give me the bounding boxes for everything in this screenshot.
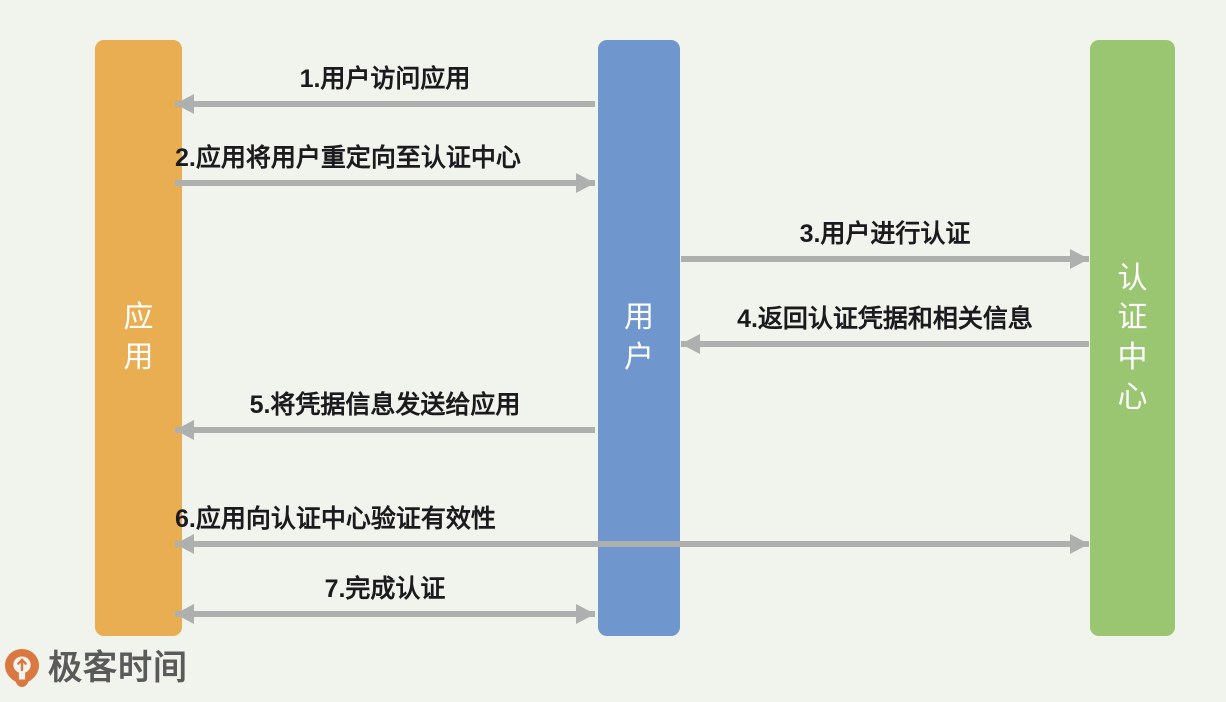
message-6-line xyxy=(175,541,1089,547)
arrow-left-icon xyxy=(681,334,700,354)
message-4-label: 4.返回认证凭据和相关信息 xyxy=(681,305,1089,334)
actor-application: 应用 xyxy=(95,40,182,636)
actor-application-label: 应用 xyxy=(122,298,156,377)
message-5-label: 5.将凭据信息发送给应用 xyxy=(175,391,595,420)
actor-user-label: 用户 xyxy=(622,298,656,377)
message-7-label: 7.完成认证 xyxy=(175,575,595,604)
geektime-logo-text: 极客时间 xyxy=(48,651,188,685)
actor-auth-center-label: 认证中心 xyxy=(1116,259,1150,417)
arrow-left-icon xyxy=(175,420,194,440)
geektime-logo-icon xyxy=(4,648,40,688)
message-4-line xyxy=(681,341,1089,347)
actor-auth-center: 认证中心 xyxy=(1090,40,1175,636)
sequence-diagram: 应用 用户 认证中心 1.用户访问应用 2.应用将用户重定向至认证中心 3.用户… xyxy=(0,0,1226,702)
arrow-right-icon xyxy=(576,604,595,624)
message-3-line xyxy=(681,256,1089,262)
message-3-label: 3.用户进行认证 xyxy=(681,220,1089,249)
arrow-left-icon xyxy=(175,534,194,554)
arrow-right-icon xyxy=(1070,249,1089,269)
message-7-line xyxy=(175,611,595,617)
arrow-left-icon xyxy=(175,94,194,114)
message-2-label: 2.应用将用户重定向至认证中心 xyxy=(175,144,595,173)
arrow-right-icon xyxy=(1070,534,1089,554)
message-6-label: 6.应用向认证中心验证有效性 xyxy=(175,505,1089,534)
message-1-line xyxy=(175,101,595,107)
arrow-left-icon xyxy=(175,604,194,624)
message-5-line xyxy=(175,427,595,433)
geektime-logo: 极客时间 xyxy=(4,648,188,688)
message-2-line xyxy=(175,180,595,186)
arrow-right-icon xyxy=(576,173,595,193)
message-1-label: 1.用户访问应用 xyxy=(175,65,595,94)
